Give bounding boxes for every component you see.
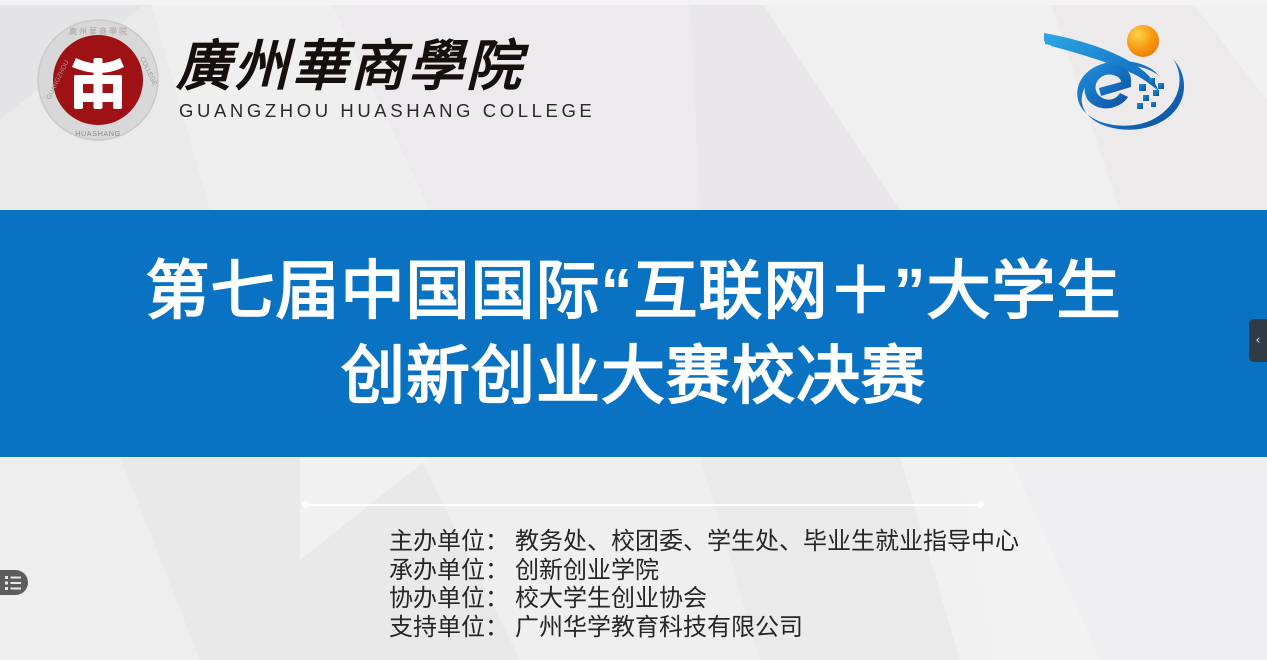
organizer-value: 教务处、校团委、学生处、毕业生就业指导中心 xyxy=(515,528,1019,557)
divider-dot-right xyxy=(977,501,984,508)
organizer-row: 承办单位： 创新创业学院 xyxy=(389,557,1019,586)
menu-button[interactable] xyxy=(0,570,28,595)
school-logo: HUASHANG GUANGZHOU COLLEGE 廣 州 華 商 學 院 廣… xyxy=(36,18,595,142)
title-line-1: 第七届中国国际“互联网＋”大学生 xyxy=(146,249,1122,333)
chevron-left-icon: ‹ xyxy=(1255,334,1260,347)
organizer-value: 校大学生创业协会 xyxy=(515,585,707,614)
presentation-slide: HUASHANG GUANGZHOU COLLEGE 廣 州 華 商 學 院 廣… xyxy=(0,0,1267,660)
title-line-2: 创新创业大赛校决赛 xyxy=(341,334,926,418)
organizer-label: 支持单位： xyxy=(389,614,515,643)
internet-plus-swoosh-logo xyxy=(1025,10,1225,150)
divider-line xyxy=(306,504,980,507)
organizer-label: 承办单位： xyxy=(389,557,515,586)
organizer-row: 主办单位： 教务处、校团委、学生处、毕业生就业指导中心 xyxy=(389,528,1019,557)
organizer-row: 协办单位： 校大学生创业协会 xyxy=(389,585,1019,614)
side-panel-toggle[interactable]: ‹ xyxy=(1249,319,1267,362)
organizer-row: 支持单位： 广州华学教育科技有限公司 xyxy=(389,614,1019,643)
organizer-label: 协办单位： xyxy=(389,585,515,614)
horizontal-rule-with-end-dots xyxy=(302,502,984,507)
organizer-value: 创新创业学院 xyxy=(515,557,659,586)
title-band: 第七届中国国际“互联网＋”大学生 创新创业大赛校决赛 xyxy=(0,210,1267,457)
slide-header: HUASHANG GUANGZHOU COLLEGE 廣 州 華 商 學 院 廣… xyxy=(0,0,1267,210)
list-menu-icon xyxy=(5,576,21,590)
school-name-block: 廣州華商學院 GUANGZHOU HUASHANG COLLEGE xyxy=(176,38,595,123)
school-name-cn: 廣州華商學院 xyxy=(176,38,595,96)
school-name-en: GUANGZHOU HUASHANG COLLEGE xyxy=(179,100,595,122)
organizer-value: 广州华学教育科技有限公司 xyxy=(515,614,803,643)
school-seal-icon: HUASHANG GUANGZHOU COLLEGE 廣 州 華 商 學 院 xyxy=(36,18,160,142)
svg-text:HUASHANG: HUASHANG xyxy=(75,129,121,138)
organizer-label: 主办单位： xyxy=(389,528,515,557)
svg-text:廣 州 華 商 學 院: 廣 州 華 商 學 院 xyxy=(69,26,127,36)
organizers-block: 主办单位： 教务处、校团委、学生处、毕业生就业指导中心 承办单位： 创新创业学院… xyxy=(389,528,1019,642)
